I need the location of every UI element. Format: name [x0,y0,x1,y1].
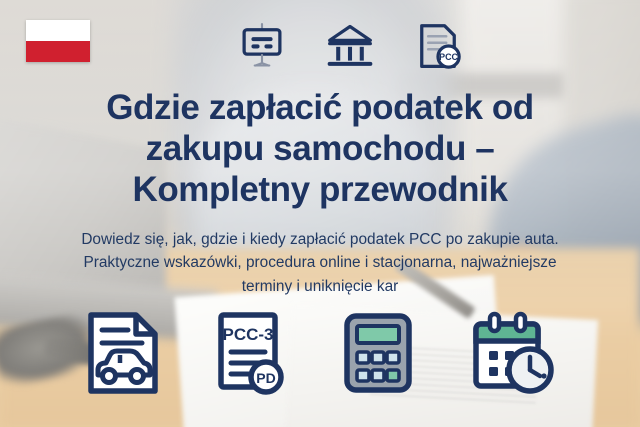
title-line-1: Gdzie zapłacić podatek od [40,88,600,129]
page-subtitle: Dowiedz się, jak, gdzie i kiedy zapłacić… [28,228,612,298]
top-icon-row: PCC [0,20,640,72]
presentation-board-icon [236,20,288,72]
pd-badge-label: PD [256,370,275,386]
pcc-document-icon: PCC [412,20,464,72]
car-document-icon [84,310,162,396]
pcc-badge-label: PCC [439,52,458,62]
pcc3-form-icon: PCC-3 PD [214,310,288,396]
calendar-clock-icon [468,310,556,396]
banner-canvas: PCC Gdzie zapłacić podatek od zakupu sam… [0,0,640,427]
subtitle-line-1: Dowiedz się, jak, gdzie i kiedy zapłacić… [28,228,612,251]
subtitle-line-3: terminy i uniknięcie kar [28,275,612,298]
calculator-icon [340,310,416,396]
bottom-icon-row: PCC-3 PD [0,310,640,396]
subtitle-line-2: Praktyczne wskazówki, procedura online i… [28,251,612,274]
title-line-2: zakupu samochodu – [40,129,600,170]
pcc3-form-label: PCC-3 [222,325,273,344]
title-line-3: Kompletny przewodnik [40,170,600,211]
bank-building-icon [324,20,376,72]
page-title: Gdzie zapłacić podatek od zakupu samocho… [40,88,600,211]
